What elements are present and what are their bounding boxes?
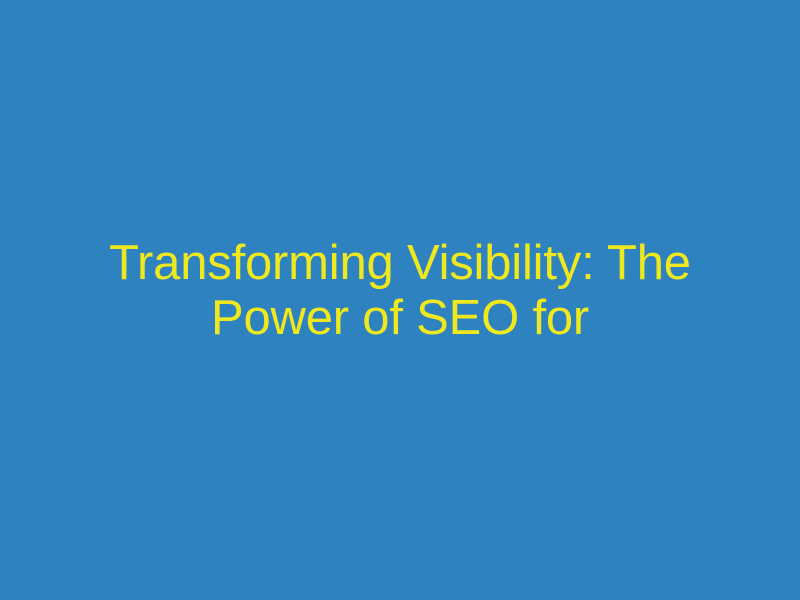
og-share-card: Transforming Visibility: The Power of SE…	[0, 0, 800, 600]
title-block: Transforming Visibility: The Power of SE…	[0, 236, 800, 346]
page-title: Transforming Visibility: The Power of SE…	[46, 236, 754, 346]
